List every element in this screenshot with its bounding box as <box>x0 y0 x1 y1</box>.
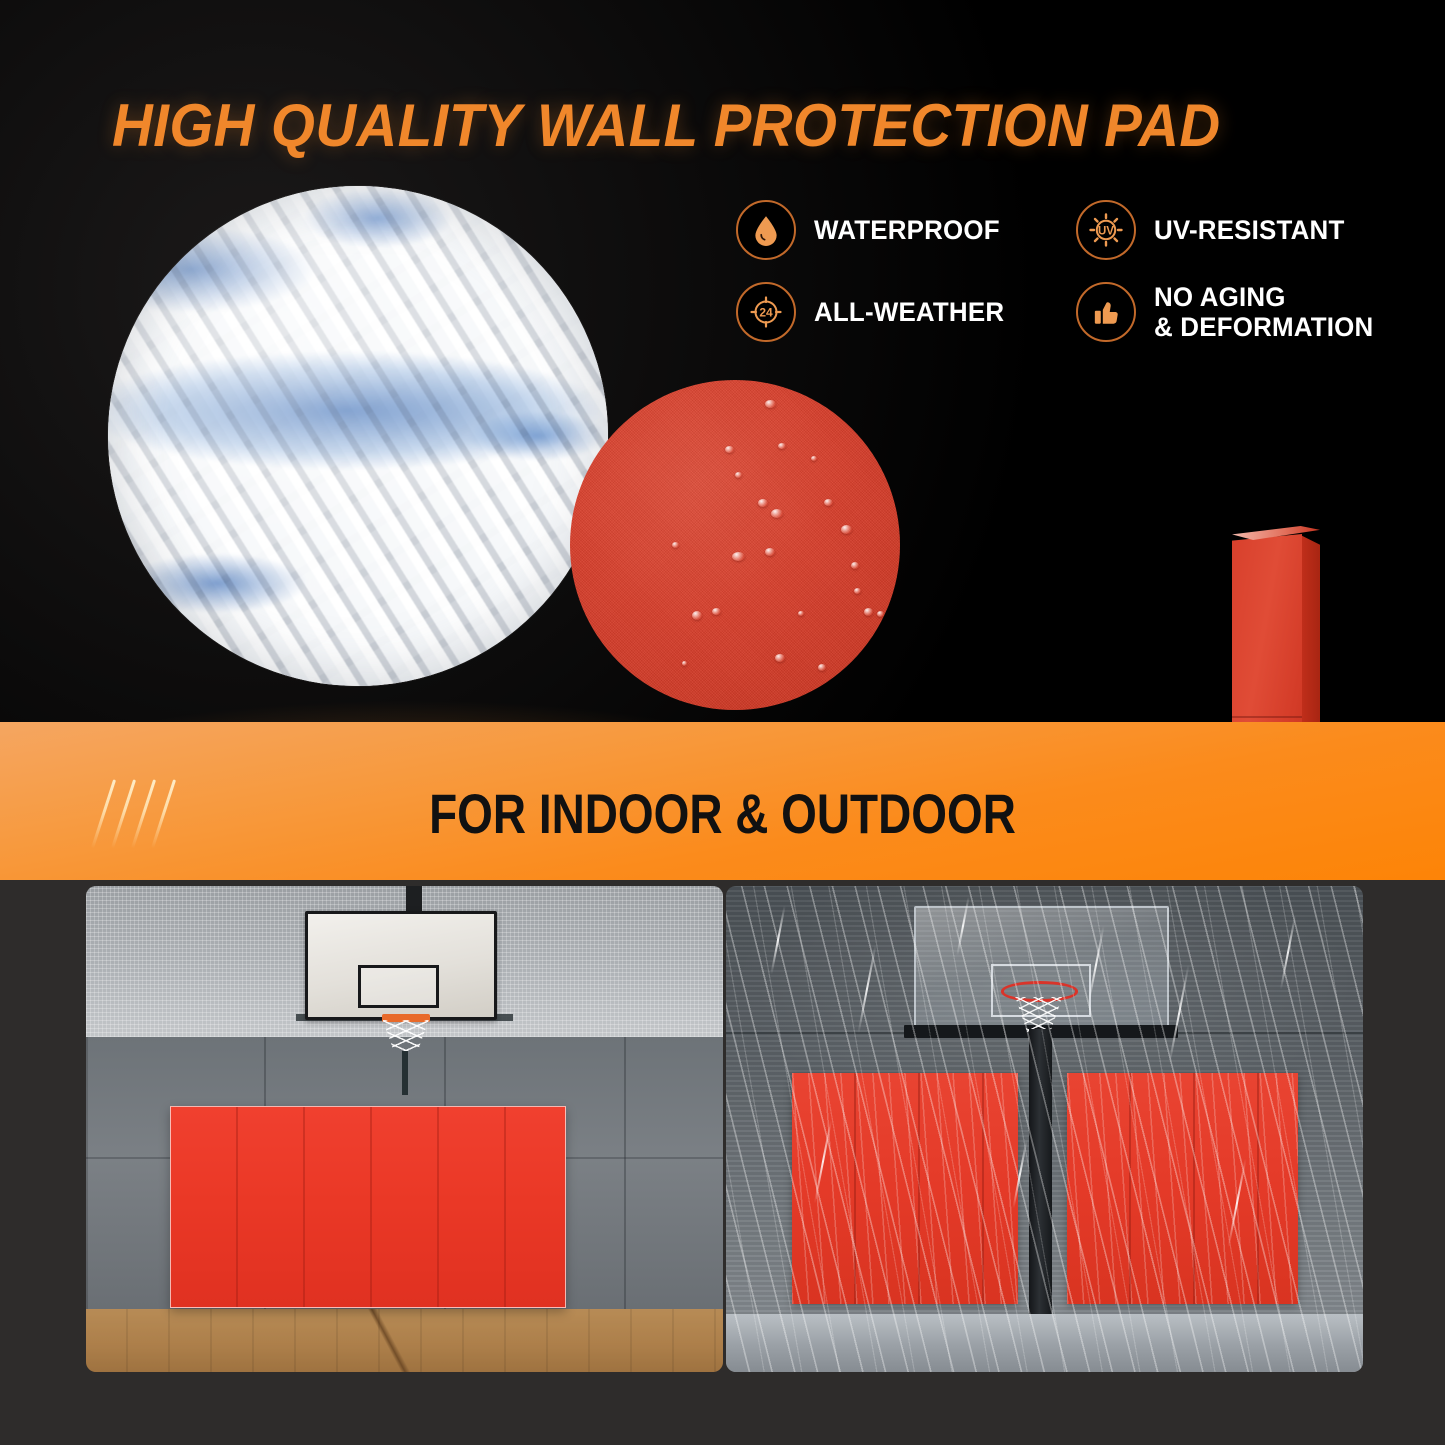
usage-photos <box>0 882 1445 1445</box>
pad-front-face <box>1232 534 1302 724</box>
red-surface-photo <box>570 380 900 710</box>
water-bead <box>877 611 884 617</box>
backboard-target-square <box>358 965 438 1008</box>
red-wall-pad-outdoor-left <box>792 1073 1017 1304</box>
water-bead <box>841 525 852 534</box>
water-drop-icon <box>736 200 796 260</box>
water-bead <box>672 542 679 548</box>
water-bead <box>712 608 721 615</box>
rim-post <box>402 1051 408 1095</box>
water-bead <box>818 664 826 671</box>
feature-item-uv-resistant: UV UV-RESISTANT <box>1076 200 1406 260</box>
water-bead <box>682 661 687 666</box>
water-bead <box>778 443 786 449</box>
feature-label: WATERPROOF <box>814 215 1000 245</box>
feature-row: 24 ALL-WEATHER NO AGING & DEFORMATION <box>736 282 1416 342</box>
water-bead <box>775 654 785 662</box>
macro-vignette <box>108 186 608 686</box>
feature-label: ALL-WEATHER <box>814 297 1004 327</box>
pad-side-face <box>1300 528 1320 724</box>
feature-item-all-weather: 24 ALL-WEATHER <box>736 282 1076 342</box>
product-pad-3d <box>1232 526 1328 724</box>
feature-row: WATERPROOF <box>736 200 1416 260</box>
gym-backboard <box>305 911 497 1019</box>
water-bead <box>811 456 817 461</box>
feature-list: WATERPROOF <box>736 200 1416 364</box>
indoor-gym-photo <box>86 886 723 1372</box>
24-hour-icon: 24 <box>736 282 796 342</box>
water-bead <box>758 499 768 507</box>
banner-title: FOR INDOOR & OUTDOOR <box>130 786 1315 842</box>
water-bead <box>798 611 804 616</box>
svg-text:UV: UV <box>1098 226 1114 238</box>
water-bead <box>771 509 783 518</box>
water-bead <box>864 608 873 616</box>
water-bead <box>765 400 776 408</box>
pad-seam <box>1232 716 1302 718</box>
red-surface-grain <box>570 380 900 710</box>
water-bead <box>851 562 859 569</box>
water-bead <box>732 552 745 561</box>
macro-texture-photo <box>108 186 608 686</box>
hero-section: HIGH QUALITY WALL PROTECTION PAD <box>0 0 1445 724</box>
outdoor-rain-photo <box>726 886 1363 1372</box>
page-title: HIGH QUALITY WALL PROTECTION PAD <box>112 96 1268 156</box>
hoop-pole <box>1029 1029 1052 1325</box>
uv-sun-icon: UV <box>1076 200 1136 260</box>
feature-item-no-aging: NO AGING & DEFORMATION <box>1076 282 1406 342</box>
svg-text:24: 24 <box>759 305 773 319</box>
red-wall-pad-outdoor-right <box>1067 1073 1298 1304</box>
water-bead <box>824 499 833 506</box>
water-bead <box>854 588 861 594</box>
red-wall-pad-indoor <box>170 1106 566 1308</box>
gym-wood-floor <box>86 1309 723 1372</box>
thumbs-up-icon <box>1076 282 1136 342</box>
product-infographic: HIGH QUALITY WALL PROTECTION PAD <box>0 0 1445 1445</box>
feature-label: NO AGING & DEFORMATION <box>1154 282 1373 342</box>
wet-ground <box>726 1314 1363 1372</box>
feature-item-waterproof: WATERPROOF <box>736 200 1076 260</box>
feature-label: UV-RESISTANT <box>1154 215 1344 245</box>
